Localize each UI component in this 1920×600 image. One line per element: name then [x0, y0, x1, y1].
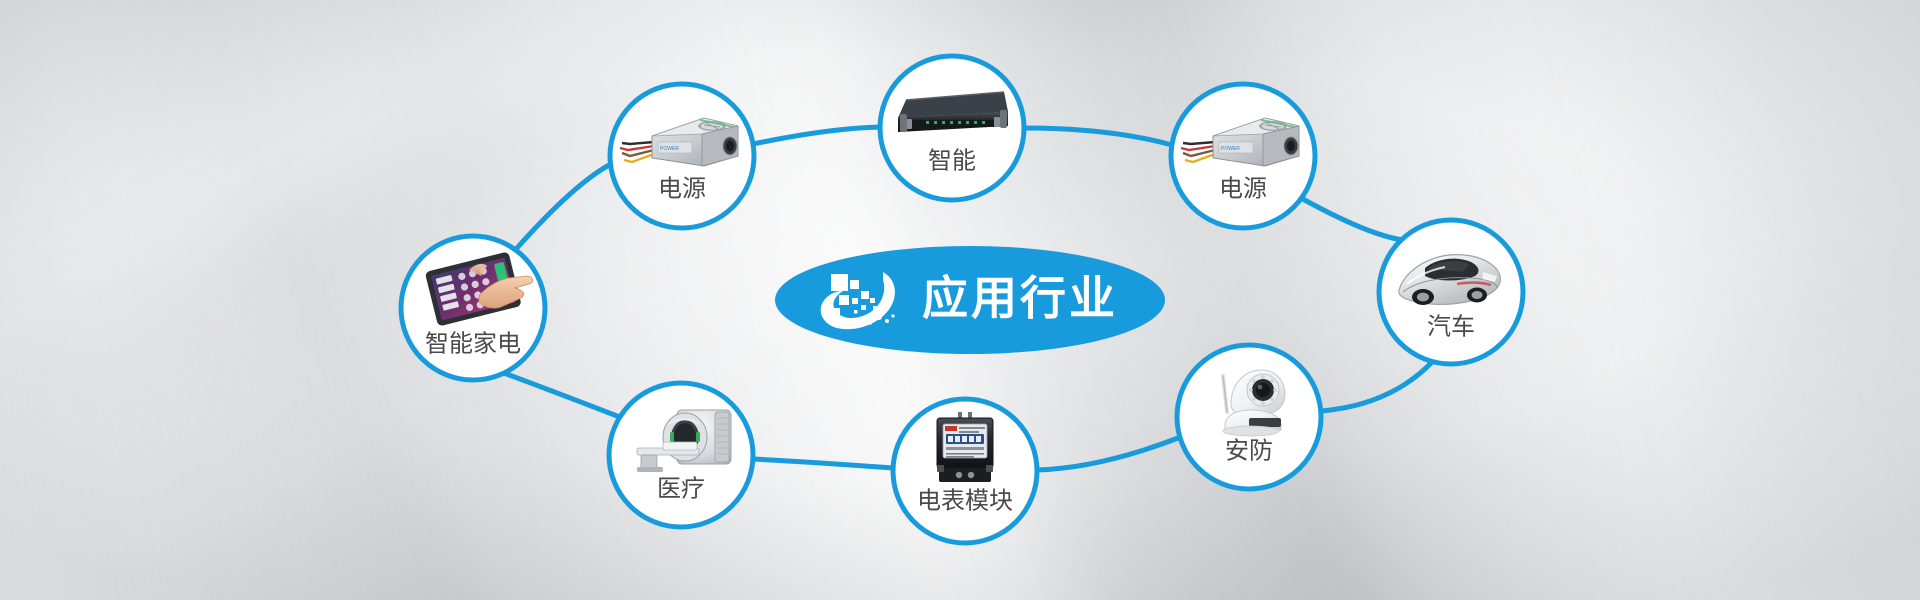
node-power-supply-left[interactable]: POWER 电源 — [610, 84, 754, 228]
connector-security-to-meter-module — [1037, 438, 1178, 470]
connector-meter-module-to-medical — [753, 459, 893, 468]
svg-text:POWER: POWER — [660, 146, 679, 152]
node-security[interactable]: 安防 — [1177, 345, 1321, 489]
node-smart-home-appliance[interactable]: 智能家电 — [401, 236, 545, 380]
application-industries-banner: 智能家电 POWER — [0, 0, 1920, 600]
connector-power-supply-right-to-automobile — [1301, 198, 1403, 240]
connector-smart-to-power-supply-right — [1024, 128, 1172, 145]
node-label: 智能 — [928, 147, 976, 174]
industry-circle-diagram: 智能家电 POWER — [0, 0, 1920, 600]
node-label: 汽车 — [1427, 313, 1475, 340]
node-medical[interactable]: 医疗 — [609, 383, 753, 527]
center-badge-title: 应用行业 — [922, 272, 1118, 324]
node-label: 安防 — [1225, 437, 1273, 464]
svg-text:POWER: POWER — [1221, 146, 1240, 152]
node-label: 医疗 — [657, 475, 705, 502]
connector-power-supply-left-to-smart — [753, 127, 881, 144]
node-label: 电源 — [658, 175, 706, 202]
center-badge[interactable]: 应用行业 — [775, 246, 1165, 354]
node-label: 智能家电 — [425, 330, 521, 357]
node-label: 电表模块 — [917, 487, 1013, 514]
node-label: 电源 — [1219, 175, 1267, 202]
connector-automobile-to-security — [1321, 360, 1434, 411]
node-meter-module[interactable]: 电表模块 — [893, 399, 1037, 543]
node-power-supply-right[interactable]: POWER 电源 — [1171, 84, 1315, 228]
connector-smart-home-appliance-to-power-supply-left — [517, 164, 611, 248]
node-automobile[interactable]: 汽车 — [1379, 220, 1523, 364]
electric-meter-icon — [937, 412, 993, 482]
node-smart[interactable]: 智能 — [880, 56, 1024, 200]
connector-medical-to-smart-home-appliance — [501, 372, 617, 416]
